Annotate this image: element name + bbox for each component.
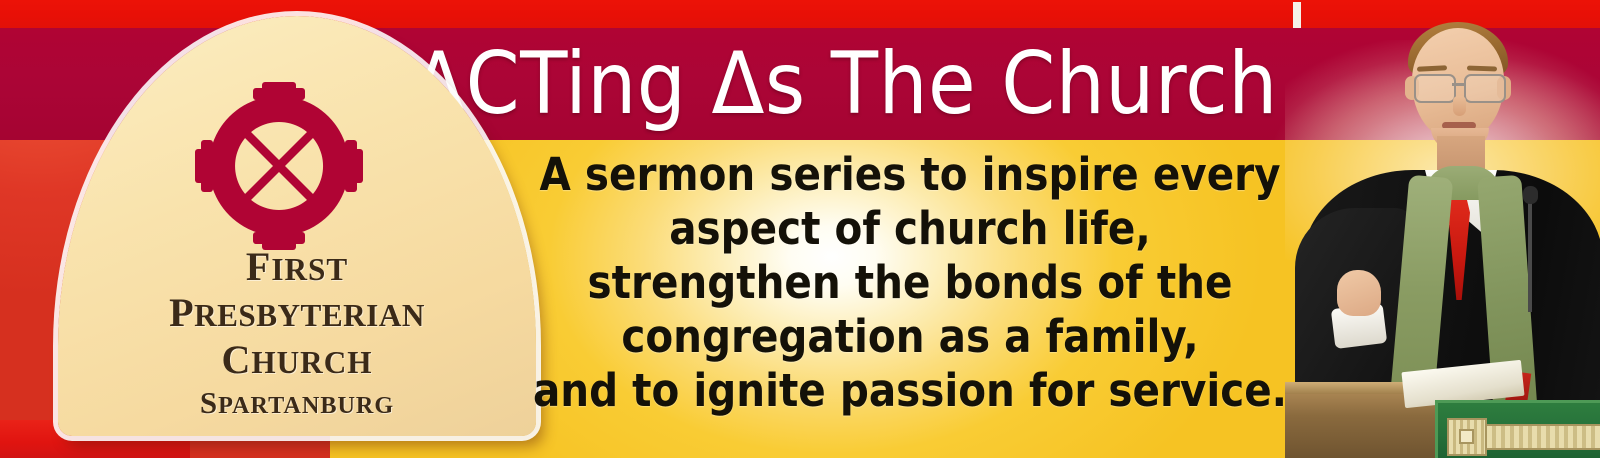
logo-line-spartanburg: SPARTANBURG [58, 385, 536, 424]
description-line-1: A sermon series to inspire every [520, 148, 1300, 202]
paraments-gold-band [1485, 424, 1600, 450]
sermon-series-banner: ΔCTing Δs The Church FIRST [0, 0, 1600, 458]
banner-title: ΔCTing Δs The Church [400, 30, 1290, 138]
description-line-2: aspect of church life, [520, 202, 1300, 256]
raised-hand [1337, 270, 1381, 316]
church-name-text: FIRST PRESBYTERIAN CHURCH SPARTANBURG [58, 246, 536, 424]
sermon-description: A sermon series to inspire every aspect … [520, 148, 1300, 418]
description-line-4: congregation as a family, [520, 310, 1300, 364]
description-line-3: strengthen the bonds of the [520, 256, 1300, 310]
nose [1453, 96, 1466, 116]
microphone-icon [1523, 186, 1538, 204]
paraments-center-dot [1459, 429, 1474, 444]
description-line-5: and to ignite passion for service. [520, 364, 1300, 418]
eyeglass-lens-left [1414, 74, 1456, 103]
logo-line-presbyterian: PRESBYTERIAN [58, 291, 536, 338]
celtic-cross-icon [193, 80, 365, 252]
eyeglass-bridge [1452, 83, 1464, 86]
logo-line-first: FIRST [58, 246, 536, 291]
pastor-photo [1285, 0, 1600, 458]
microphone-stem [1528, 196, 1532, 312]
logo-line-church: CHURCH [58, 338, 536, 385]
eyeglass-lens-right [1464, 74, 1506, 103]
eyebrow-right [1467, 65, 1497, 71]
